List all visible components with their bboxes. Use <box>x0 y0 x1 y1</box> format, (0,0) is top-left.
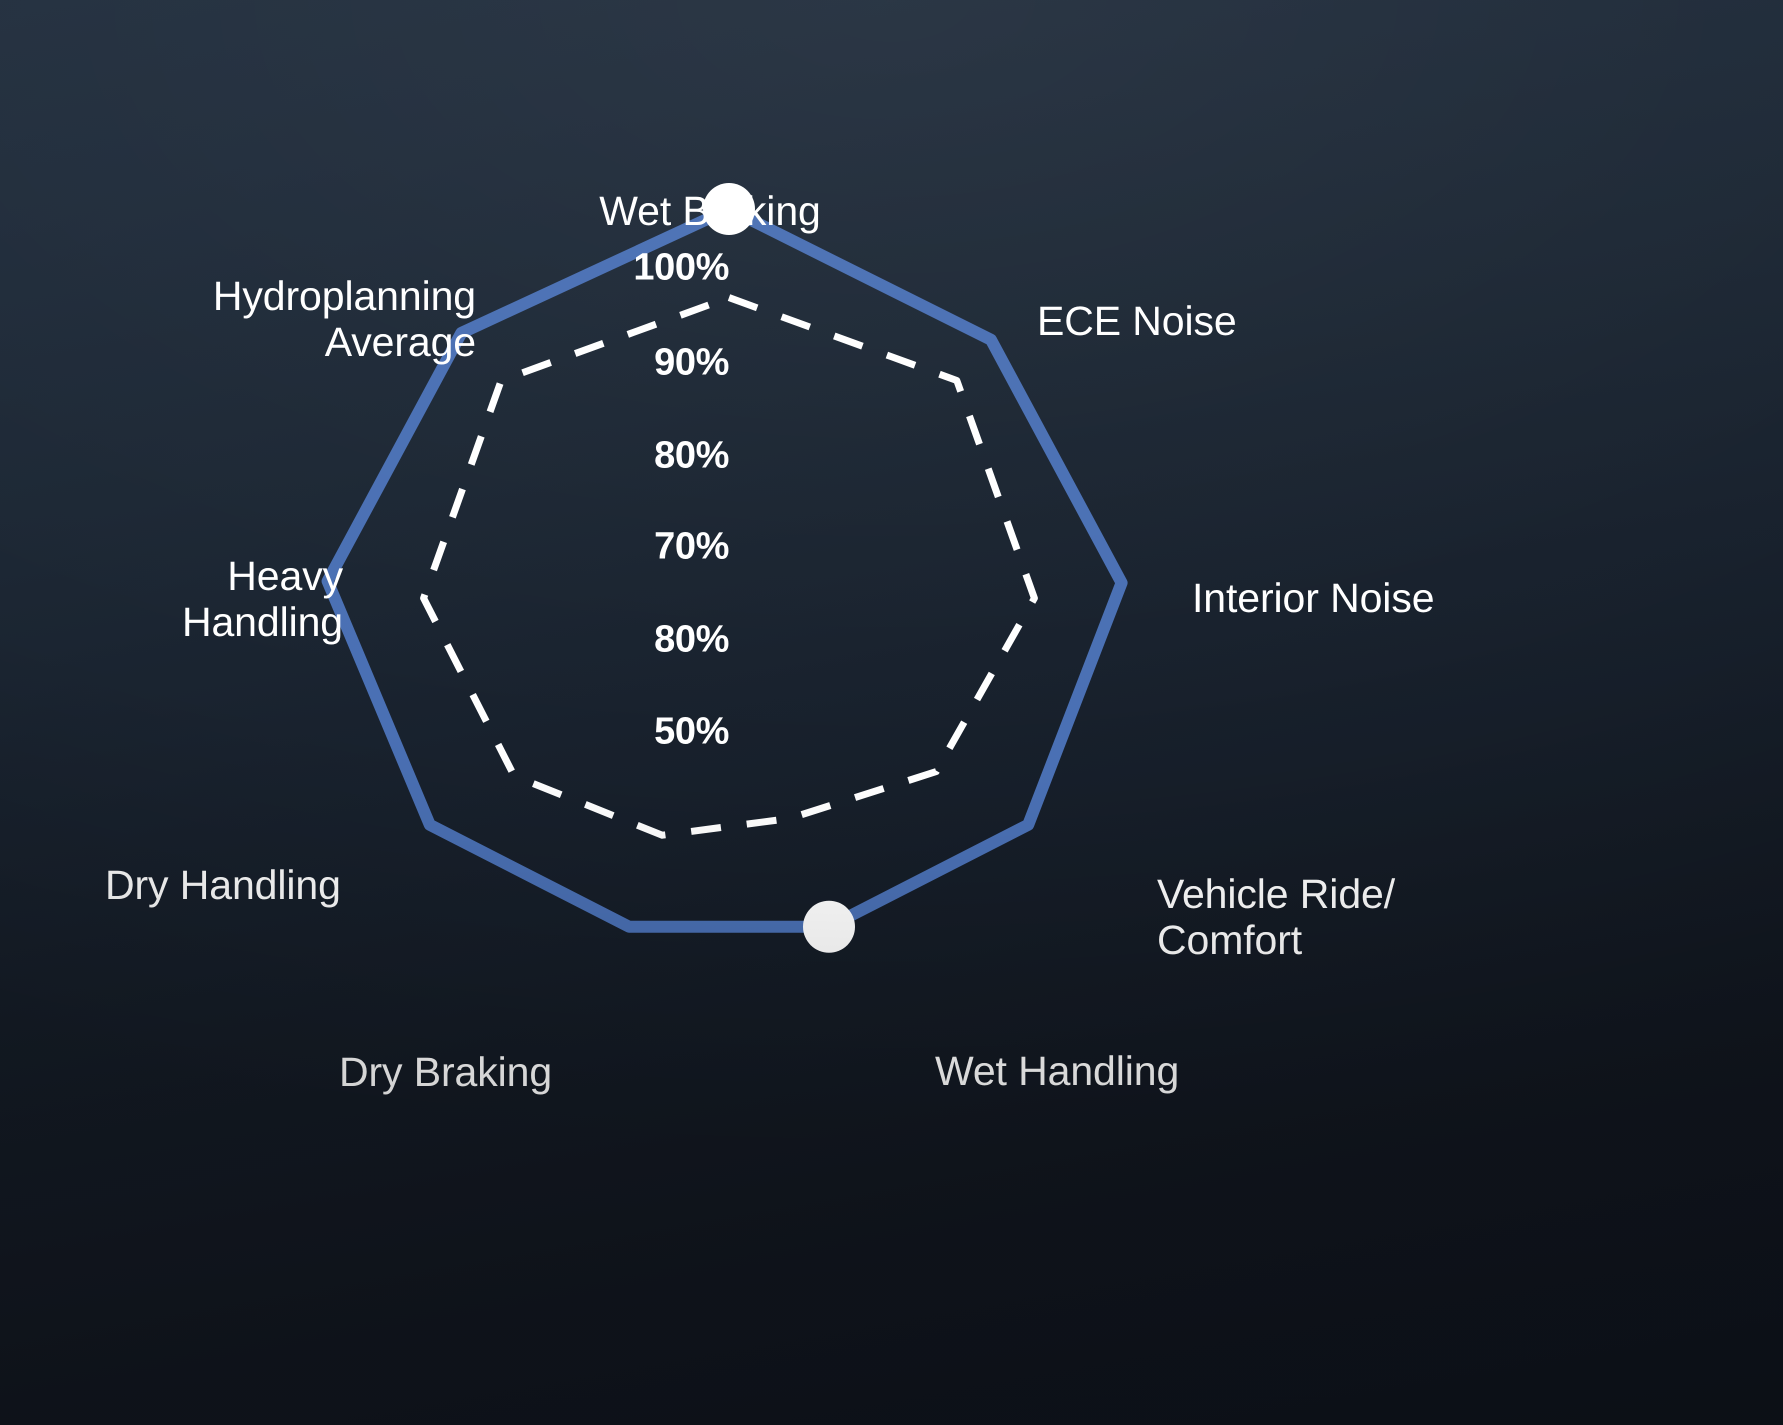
radial-tick-label-0: 100% <box>633 247 729 290</box>
radial-tick-label-3: 70% <box>654 526 729 569</box>
data-point-marker[interactable] <box>803 901 855 953</box>
radial-tick-label-4: 80% <box>654 619 729 662</box>
axis-label-wet-braking: Wet Braking <box>599 189 820 235</box>
radial-tick-label-1: 90% <box>654 342 729 385</box>
radial-tick-label-5: 50% <box>654 711 729 754</box>
axis-label-hydroplanning-average: Hydroplanning Average <box>213 274 476 366</box>
radar-chart-page: Wet BrakingECE NoiseInterior NoiseVehicl… <box>0 0 1783 1425</box>
axis-label-dry-handling: Dry Handling <box>105 863 341 909</box>
axis-label-wet-handling: Wet Handling <box>935 1049 1179 1095</box>
axis-label-heavy-handling: Heavy Handling <box>182 554 343 646</box>
axis-label-ece-noise: ECE Noise <box>1037 299 1237 345</box>
radar-chart-canvas <box>0 0 1783 1425</box>
axis-label-interior-noise: Interior Noise <box>1192 576 1434 622</box>
radial-tick-label-2: 80% <box>654 435 729 478</box>
series-dashed-group <box>424 298 1035 836</box>
axis-label-vehicle-ride-comfort: Vehicle Ride/ Comfort <box>1157 872 1395 964</box>
series-dashed-polygon <box>424 298 1035 836</box>
axis-label-dry-braking: Dry Braking <box>339 1050 552 1096</box>
